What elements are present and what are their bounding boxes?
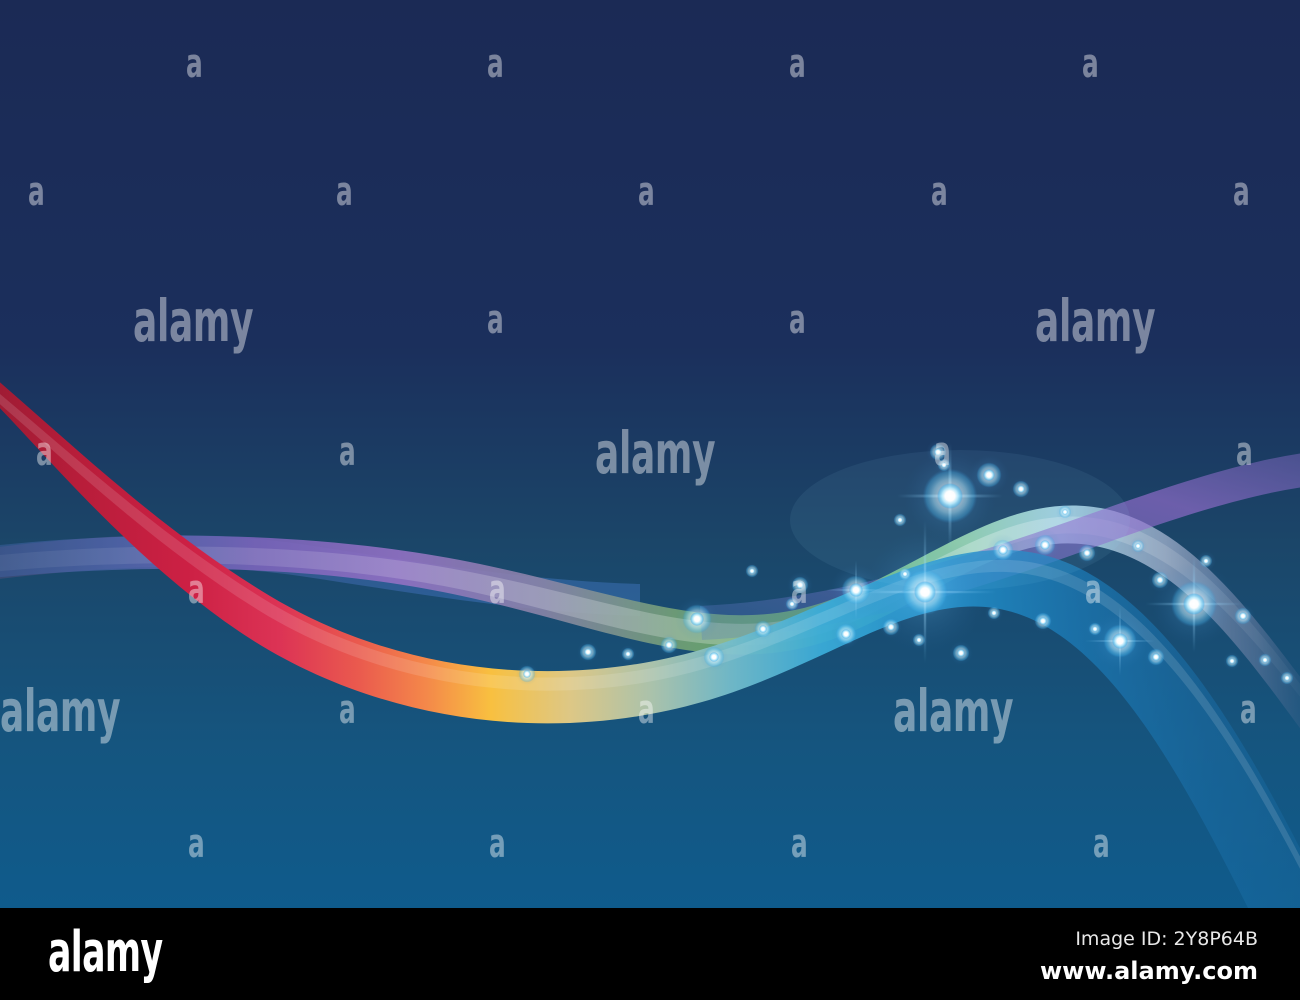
particle-core [841, 629, 851, 639]
light-particle [700, 643, 728, 671]
light-particle [1256, 651, 1274, 669]
particle-core [1229, 658, 1235, 664]
light-particle [577, 641, 599, 663]
light-particle [987, 534, 1019, 566]
light-particle [1278, 669, 1296, 687]
alamy-logo[interactable]: alamy [48, 925, 162, 981]
light-particle [935, 456, 953, 474]
light-particle [783, 595, 801, 613]
artwork-background [0, 0, 1300, 908]
particle-core [1239, 612, 1247, 620]
particle-core [759, 625, 767, 633]
light-particle [969, 455, 1009, 495]
particle-core [796, 581, 804, 589]
particle-core [1203, 558, 1209, 564]
particle-core [789, 601, 795, 607]
light-particle [744, 563, 760, 579]
particle-core [991, 610, 997, 616]
particle-core [523, 670, 531, 678]
light-particle [787, 572, 813, 598]
particle-core [690, 612, 704, 626]
particle-core [941, 462, 947, 468]
particle-core [849, 583, 863, 597]
particle-core [1092, 626, 1098, 632]
light-particle [1231, 604, 1255, 628]
particle-core [665, 641, 673, 649]
light-particle [949, 641, 973, 665]
light-particle [831, 619, 861, 649]
particle-core [1017, 485, 1025, 493]
light-particle [1223, 652, 1241, 670]
particle-core [625, 651, 631, 657]
light-particle [1056, 503, 1074, 521]
particle-core [934, 448, 942, 456]
particle-core [916, 637, 922, 643]
particle-core [1083, 549, 1091, 557]
particle-core [1183, 593, 1205, 615]
particle-core [709, 652, 719, 662]
light-particle [880, 616, 902, 638]
particle-core [1262, 657, 1268, 663]
light-particle [675, 597, 719, 641]
particle-core [584, 648, 592, 656]
particle-core [749, 568, 755, 574]
light-particle [516, 663, 538, 685]
image-id-label: Image ID: 2Y8P64B [1075, 928, 1258, 950]
particle-core [998, 545, 1008, 555]
particle-core [914, 581, 936, 603]
light-particle [1148, 568, 1172, 592]
particle-core [1062, 509, 1068, 515]
particle-core [1040, 540, 1050, 550]
light-particle [1129, 537, 1147, 555]
stock-photo-page: aaaaaaaaaalamyaaalamyaaalamyaaaaaaalamya… [0, 0, 1300, 1000]
light-particle [1145, 646, 1167, 668]
light-particle [1029, 529, 1061, 561]
light-particle [896, 565, 914, 583]
light-particle [910, 631, 928, 649]
light-particle [658, 634, 680, 656]
particle-core [897, 517, 903, 523]
light-particle [752, 618, 774, 640]
light-particle [985, 604, 1003, 622]
particle-core [902, 571, 908, 577]
particle-core [1156, 576, 1164, 584]
light-particle [1010, 478, 1032, 500]
artwork-image: aaaaaaaaaalamyaaalamyaaalamyaaaaaaalamya… [0, 0, 1300, 908]
particle-core [937, 483, 963, 509]
particle-core [1284, 675, 1290, 681]
particle-core [1152, 653, 1160, 661]
particle-core [887, 623, 895, 631]
light-particle [1196, 551, 1216, 571]
alamy-footer-bar: alamy Image ID: 2Y8P64B www.alamy.com [0, 908, 1300, 1000]
particle-core [1039, 617, 1047, 625]
abstract-ribbon-artwork [0, 0, 1300, 908]
light-particle [892, 512, 908, 528]
light-particle [1086, 620, 1104, 638]
particle-core [957, 649, 965, 657]
light-particle [619, 645, 637, 663]
site-url-label[interactable]: www.alamy.com [1040, 957, 1258, 985]
light-particle [1075, 541, 1099, 565]
particle-core [983, 469, 995, 481]
particle-core [1135, 543, 1141, 549]
particle-core [1112, 633, 1128, 649]
light-particle [1032, 610, 1054, 632]
